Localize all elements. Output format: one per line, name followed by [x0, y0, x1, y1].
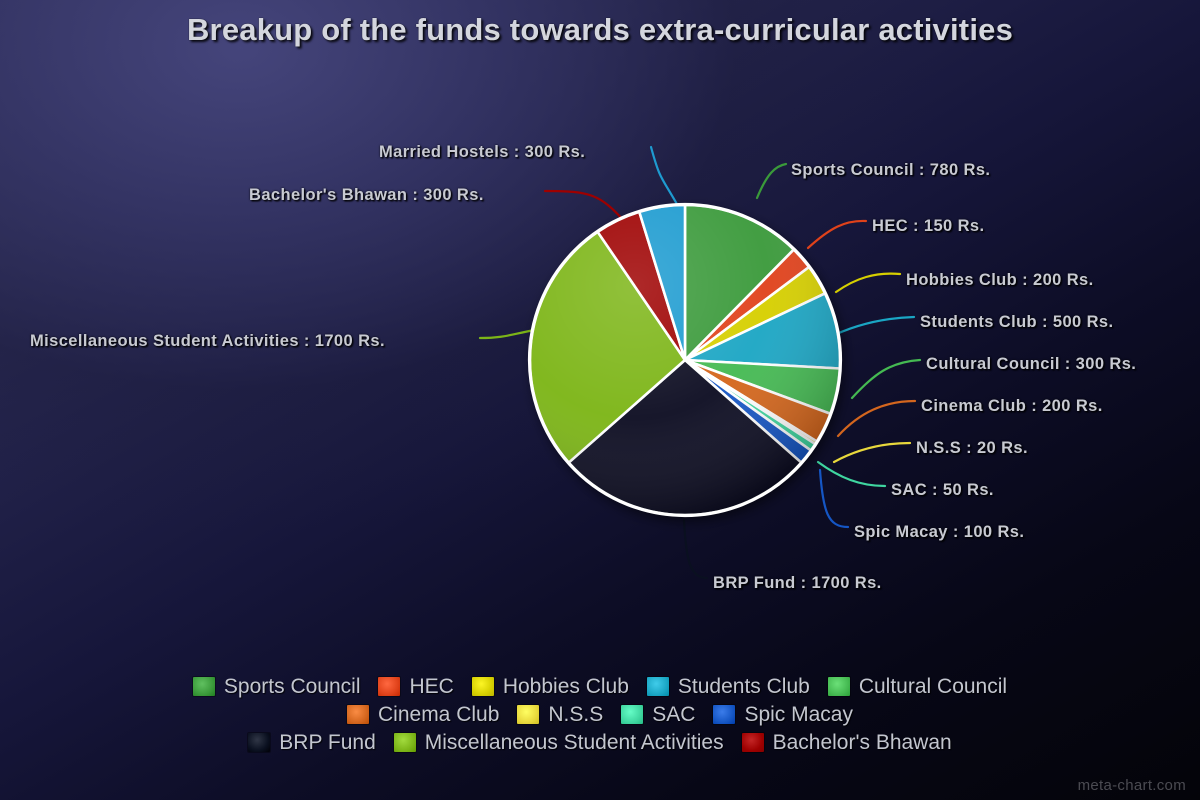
legend-item[interactable]: SAC	[621, 700, 695, 728]
legend-swatch	[517, 705, 539, 724]
slice-label-students-club: Students Club : 500 Rs.	[920, 313, 1113, 332]
legend-item[interactable]: Spic Macay	[713, 700, 853, 728]
legend-label: HEC	[409, 676, 453, 697]
legend-label: Spic Macay	[744, 704, 853, 725]
legend-label: Hobbies Club	[503, 676, 629, 697]
legend-item[interactable]: Cultural Council	[828, 672, 1007, 700]
legend-item[interactable]: Students Club	[647, 672, 810, 700]
leader-line-bachelors-bhawan	[545, 191, 625, 222]
watermark: meta-chart.com	[1078, 777, 1186, 794]
legend-label: Students Club	[678, 676, 810, 697]
legend-item[interactable]: HEC	[378, 672, 453, 700]
slice-label-spic-macay: Spic Macay : 100 Rs.	[854, 523, 1024, 542]
legend-label: N.S.S	[548, 704, 603, 725]
legend-label: Cinema Club	[378, 704, 499, 725]
slice-label-sac: SAC : 50 Rs.	[891, 481, 994, 500]
slice-label-cultural-council: Cultural Council : 300 Rs.	[926, 355, 1136, 374]
legend-row: BRP FundMiscellaneous Student Activities…	[70, 728, 1130, 756]
legend-swatch	[193, 677, 215, 696]
slice-label-sports-council: Sports Council : 780 Rs.	[791, 161, 990, 180]
slice-label-married-hostels: Married Hostels : 300 Rs.	[379, 143, 585, 162]
slice-label-hec: HEC : 150 Rs.	[872, 217, 985, 236]
legend-label: Cultural Council	[859, 676, 1007, 697]
legend-item[interactable]: BRP Fund	[248, 728, 376, 756]
legend-label: Bachelor's Bhawan	[773, 732, 952, 753]
leader-line-sports-council	[757, 164, 786, 198]
legend-item[interactable]: Bachelor's Bhawan	[742, 728, 952, 756]
leader-line-cinema-club	[838, 401, 915, 436]
legend-label: SAC	[652, 704, 695, 725]
leader-line-cultural-council	[852, 360, 920, 398]
leader-line-students-club	[828, 317, 914, 338]
slice-label-cinema-club: Cinema Club : 200 Rs.	[921, 397, 1103, 416]
leader-line-married-hostels	[651, 147, 678, 206]
leader-line-sac	[818, 462, 885, 486]
legend-label: Miscellaneous Student Activities	[425, 732, 724, 753]
legend-label: Sports Council	[224, 676, 361, 697]
leader-line-nss	[834, 443, 910, 462]
legend-swatch	[742, 733, 764, 752]
slice-label-brp-fund: BRP Fund : 1700 Rs.	[713, 574, 882, 593]
legend-item[interactable]: Hobbies Club	[472, 672, 629, 700]
legend-item[interactable]: Miscellaneous Student Activities	[394, 728, 724, 756]
legend-swatch	[713, 705, 735, 724]
legend-item[interactable]: Cinema Club	[347, 700, 499, 728]
leader-line-hec	[808, 221, 866, 248]
legend-swatch	[248, 733, 270, 752]
legend-swatch	[472, 677, 494, 696]
leader-line-brp-fund	[684, 520, 707, 578]
chart-canvas: Breakup of the funds towards extra-curri…	[0, 0, 1200, 800]
legend-row: Sports CouncilHECHobbies ClubStudents Cl…	[70, 672, 1130, 700]
legend-swatch	[347, 705, 369, 724]
leader-line-misc	[480, 330, 535, 338]
legend-swatch	[647, 677, 669, 696]
legend-swatch	[828, 677, 850, 696]
legend-swatch	[621, 705, 643, 724]
leader-line-hobbies-club	[836, 274, 900, 292]
legend-row: Cinema ClubN.S.SSACSpic Macay	[70, 700, 1130, 728]
slice-label-nss: N.S.S : 20 Rs.	[916, 439, 1028, 458]
legend-swatch	[378, 677, 400, 696]
slice-label-bachelors-bhawan: Bachelor's Bhawan : 300 Rs.	[249, 186, 484, 205]
legend-item[interactable]: N.S.S	[517, 700, 603, 728]
pie-slices	[530, 205, 840, 515]
chart-legend: Sports CouncilHECHobbies ClubStudents Cl…	[0, 672, 1200, 756]
leader-line-spic-macay	[820, 470, 848, 527]
legend-label: BRP Fund	[279, 732, 376, 753]
slice-label-hobbies-club: Hobbies Club : 200 Rs.	[906, 271, 1094, 290]
legend-swatch	[394, 733, 416, 752]
legend-item[interactable]: Sports Council	[193, 672, 361, 700]
slice-label-miscellaneous-student-activities: Miscellaneous Student Activities : 1700 …	[30, 332, 385, 351]
